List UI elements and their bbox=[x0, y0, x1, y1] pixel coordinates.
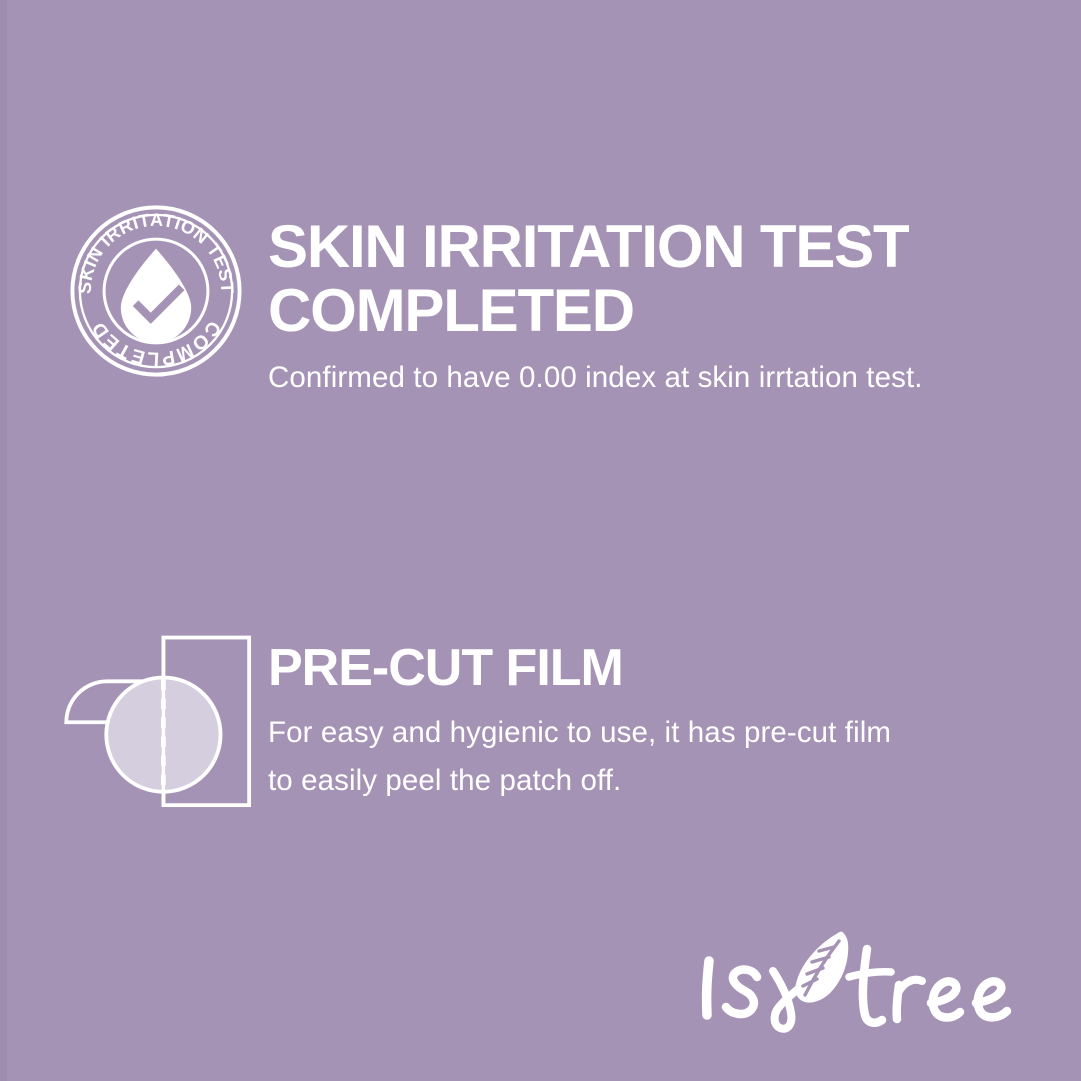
feature-block-pre-cut-film: PRE-CUT FILM For easy and hygienic to us… bbox=[52, 628, 1052, 814]
feature-description-line-1: For easy and hygienic to use, it has pre… bbox=[268, 716, 891, 749]
feature-text-skin-irritation-test: SKIN IRRITATION TEST COMPLETED Confirmed… bbox=[244, 203, 1058, 398]
feature-description-skin-irritation-test: Confirmed to have 0.00 index at skin irr… bbox=[268, 359, 1058, 397]
feature-title-skin-irritation-test: SKIN IRRITATION TEST COMPLETED bbox=[268, 215, 1058, 342]
isntree-logo: Isntree bbox=[695, 927, 1025, 1037]
feature-description-line-2: to easily peel the patch off. bbox=[268, 764, 621, 797]
feature-block-skin-irritation-test: SKIN IRRITATION TEST COMPLETED SKIN IRRI… bbox=[68, 203, 1058, 399]
skin-irritation-test-badge-icon: SKIN IRRITATION TEST COMPLETED bbox=[68, 203, 244, 399]
feature-text-pre-cut-film: PRE-CUT FILM For easy and hygienic to us… bbox=[252, 628, 1052, 805]
feature-description-pre-cut-film: For easy and hygienic to use, it has pre… bbox=[268, 709, 1052, 805]
feature-title-pre-cut-film: PRE-CUT FILM bbox=[268, 642, 1052, 695]
water-droplet-icon bbox=[121, 249, 191, 343]
product-feature-panel: SKIN IRRITATION TEST COMPLETED SKIN IRRI… bbox=[0, 0, 1081, 1081]
pre-cut-film-icon bbox=[52, 628, 252, 814]
